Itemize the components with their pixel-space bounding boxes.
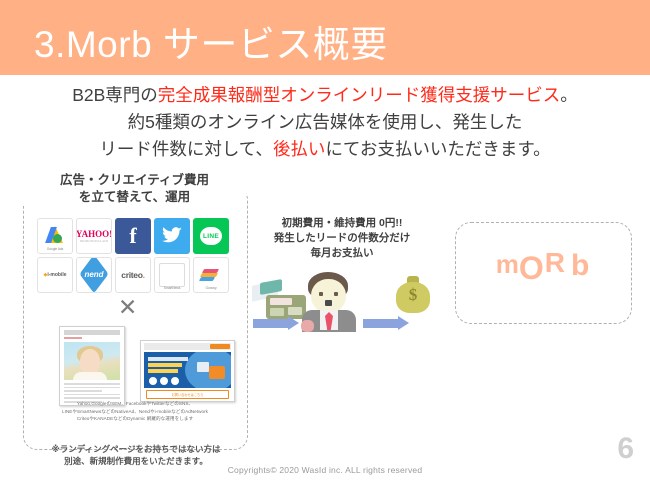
lp1-subhead-bar: [64, 337, 82, 339]
twitter-logo: [154, 218, 190, 254]
lead-line-3-suffix: にてお支払いいただきます。: [325, 139, 550, 159]
lead-line-1-highlight: 完全成果報酬型オンラインリード獲得支援サービス: [158, 85, 561, 105]
money-bag-icon: $: [392, 276, 434, 318]
lp2-header-bar: [144, 343, 231, 350]
criteo-icon: criteo.: [121, 270, 144, 280]
facebook-icon: f: [115, 218, 151, 254]
ad-media-note-line-1: Yahoo,GoogleのSEM、FacebookやTwitterなどのSNS、: [28, 400, 242, 408]
morb-logo-r: R: [545, 247, 565, 278]
lp1-photo: [64, 342, 120, 380]
lead-line-3-highlight: 後払い: [273, 139, 326, 159]
lead-line-1-prefix: B2B専門の: [72, 85, 158, 105]
lp1-text-line-5: [64, 397, 120, 399]
yahoo-wordmark: YAHOO!: [76, 229, 112, 239]
lp2-hero-text-1: [148, 357, 188, 361]
lp2-hero-badge-3: [171, 377, 179, 385]
copyright-text: Copyrights© 2020 WasId inc. ALL rights r…: [0, 465, 650, 475]
yahoo-logo: YAHOO!PROMOTIONAL ADS: [76, 218, 112, 254]
criteo-dot: .: [143, 270, 145, 280]
morb-logo: mORb: [455, 246, 630, 279]
lp1-text-line-3: [64, 390, 102, 392]
i-mobile-logo: ◆i-mobile: [37, 257, 73, 293]
lp1-text-line-2: [64, 387, 120, 389]
lp2-hero-person: [209, 366, 225, 379]
nend-wordmark: nend: [79, 270, 109, 279]
businessman-eye-right: [334, 292, 338, 296]
landing-page-note: ※ランディングページをお持ちではない方は 別途、新規制作費用をいただきます。: [20, 443, 252, 468]
money-bag-symbol: $: [392, 286, 434, 303]
line-logo: LINE: [193, 218, 229, 254]
fax-keypad: [270, 308, 284, 316]
smartnews-logo: SmartNews: [154, 257, 190, 293]
arrow-1-shaft: [253, 319, 288, 328]
yahoo-icon: YAHOO!PROMOTIONAL ADS: [76, 230, 112, 243]
landing-page-thumbnail-1: [59, 326, 125, 406]
lead-line-2: 約5種類のオンライン広告媒体を使用し、発生した: [0, 109, 650, 136]
google-ads-logo: Google Ads: [37, 218, 73, 254]
fax-paper-top: [260, 279, 282, 295]
smartnews-caption: SmartNews: [155, 287, 189, 290]
landing-page-thumbnail-2: お問い合わせはこちら: [140, 340, 235, 402]
lp2-cta-button: お問い合わせはこちら: [146, 390, 229, 399]
twitter-icon: [154, 218, 190, 254]
facebook-logo: f: [115, 218, 151, 254]
arrow-right-icon-1: [253, 316, 299, 331]
ad-cost-panel-title-line-2: を立て替えて、運用: [25, 189, 244, 206]
nend-icon: nend: [79, 261, 109, 289]
pricing-note: 初期費用・維持費用 0円!! 発生したリードの件数分だけ 毎月お支払い: [244, 216, 440, 262]
lp2-hero-monitor: [197, 362, 209, 372]
pricing-note-line-1: 初期費用・維持費用 0円!!: [244, 216, 440, 231]
ad-media-note-line-3: CriteoやKANADEなどのDynamic 網羅的な運用をします: [28, 415, 242, 423]
lp1-photo-body: [73, 372, 107, 380]
lead-line-1-suffix: 。: [560, 85, 578, 105]
pricing-note-line-2: 発生したリードの件数分だけ: [244, 231, 440, 246]
businessman-eye-left: [319, 292, 323, 296]
google-ads-icon: [47, 226, 63, 243]
arrow-right-icon-2: [363, 316, 409, 331]
ad-media-note-line-2: LINEやSmartNewsなどのNativeAd、Nendやi-mobileな…: [28, 408, 242, 416]
lp2-cta-label: お問い合わせはこちら: [172, 392, 204, 397]
businessman-head: [311, 279, 346, 313]
nend-logo: nend: [76, 257, 112, 293]
google-ads-caption: Google Ads: [38, 248, 72, 251]
lp2-hero-text-2: [148, 363, 182, 367]
i-mobile-icon: ◆i-mobile: [43, 272, 66, 278]
arrow-2-head: [398, 316, 409, 330]
lead-paragraph: B2B専門の完全成果報酬型オンラインリード獲得支援サービス。 約5種類のオンライ…: [0, 82, 650, 163]
page-title: 3.Morb サービス概要: [34, 14, 388, 68]
ad-cost-panel-title: 広告・クリエイティブ費用 を立て替えて、運用: [23, 172, 246, 206]
lp1-headline-bar: [64, 330, 120, 335]
smartnews-icon: [159, 263, 185, 287]
arrow-1-head: [288, 316, 299, 330]
yahoo-subcaption: PROMOTIONAL ADS: [76, 240, 112, 243]
lp1-text-line-1: [64, 383, 120, 385]
line-wordmark: LINE: [200, 227, 222, 245]
landing-page-note-line-1: ※ランディングページをお持ちではない方は: [20, 443, 252, 455]
lp1-text-line-4: [64, 394, 120, 396]
lp2-header-button: [210, 344, 230, 349]
morb-logo-m: m: [496, 249, 519, 279]
criteo-wordmark: criteo: [121, 270, 142, 280]
pricing-note-line-3: 毎月お支払い: [244, 246, 440, 261]
ad-media-logo-grid: Google Ads YAHOO!PROMOTIONAL ADS f LINE …: [37, 218, 233, 293]
lead-line-3: リード件数に対して、後払いにてお支払いいただきます。: [0, 136, 650, 163]
arrow-2-shaft: [363, 319, 398, 328]
gunosy-caption: Gunosy: [194, 287, 228, 290]
ad-media-note: Yahoo,GoogleのSEM、FacebookやTwitterなどのSNS、…: [28, 400, 242, 423]
i-mobile-wordmark: i-mobile: [47, 272, 66, 278]
lp2-hero: [144, 352, 231, 388]
gunosy-stripe-3: [199, 277, 215, 281]
lp2-hero-text-3: [148, 369, 178, 373]
ad-cost-panel-title-line-1: 広告・クリエイティブ費用: [25, 172, 244, 189]
businessman-mouth: [325, 300, 332, 306]
slide: 3.Morb サービス概要 B2B専門の完全成果報酬型オンラインリード獲得支援サ…: [0, 0, 650, 482]
gunosy-logo: Gunosy: [193, 257, 229, 293]
line-icon: LINE: [193, 218, 229, 254]
lead-line-1: B2B専門の完全成果報酬型オンラインリード獲得支援サービス。: [0, 82, 650, 109]
businessman-icon: [300, 272, 358, 330]
slide-header-band: 3.Morb サービス概要: [0, 0, 650, 75]
lp2-hero-badge-2: [160, 377, 168, 385]
lead-line-3-prefix: リード件数に対して、: [99, 139, 273, 159]
multiply-icon: ✕: [118, 296, 137, 319]
morb-logo-o: O: [519, 250, 545, 286]
criteo-logo: criteo.: [115, 257, 151, 293]
businessman-arm: [301, 320, 314, 332]
page-number: 6: [617, 434, 634, 464]
morb-logo-b: b: [571, 249, 589, 282]
lp2-hero-badge-1: [149, 377, 157, 385]
gunosy-icon: [201, 266, 221, 284]
